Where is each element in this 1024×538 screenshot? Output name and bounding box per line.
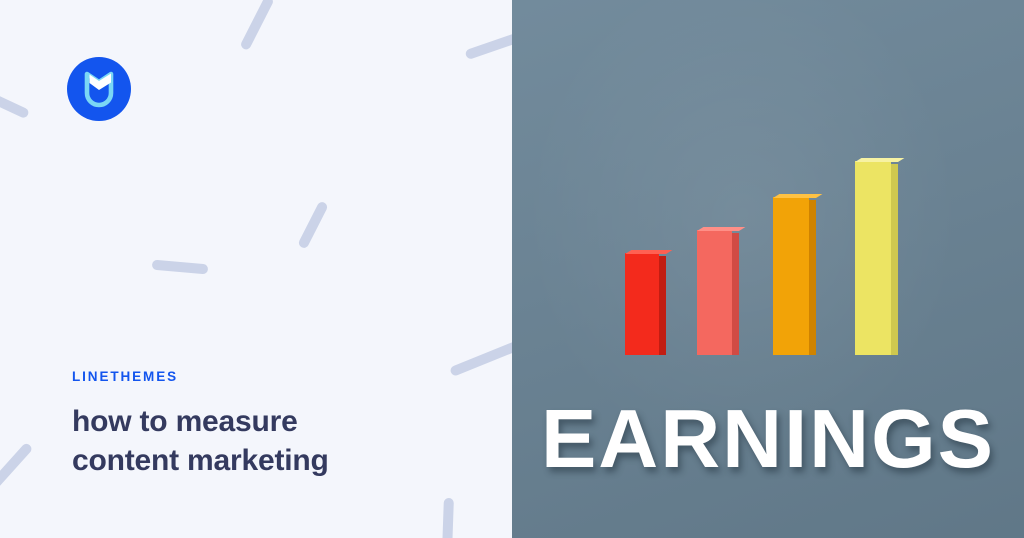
earnings-photo: EARNINGS [512, 0, 1024, 538]
bar-side [809, 200, 816, 355]
bar-top [773, 194, 822, 198]
decorative-dash [0, 442, 33, 490]
chart-bar [773, 197, 809, 355]
promo-banner: LINETHEMES how to measure content market… [0, 0, 1024, 538]
bar-side [659, 256, 666, 355]
bar-side [732, 233, 739, 355]
chart-bar [855, 161, 891, 355]
decorative-dash [239, 0, 274, 51]
decorative-dash [0, 91, 30, 120]
brand-eyebrow: LINETHEMES [72, 370, 472, 384]
decorative-dash [152, 260, 209, 275]
linethemes-logo[interactable] [67, 57, 131, 121]
decorative-dash [442, 498, 454, 538]
bar-top [697, 227, 745, 231]
decorative-dash [464, 26, 512, 60]
chart-bar [697, 230, 732, 355]
chart-bar [625, 253, 659, 355]
bar-face [773, 197, 809, 355]
bar-face [625, 253, 659, 355]
left-content-panel: LINETHEMES how to measure content market… [0, 0, 512, 538]
bar-top [625, 250, 672, 254]
page-title: how to measure content marketing [72, 402, 472, 482]
headline-line-2: content marketing [72, 441, 472, 481]
headline-block: LINETHEMES how to measure content market… [72, 370, 472, 481]
bar-face [855, 161, 891, 355]
bar-side [891, 164, 898, 355]
bar-face [697, 230, 732, 355]
bar-top [855, 158, 904, 162]
earnings-caption: EARNINGS [512, 397, 1024, 480]
decorative-dash [297, 200, 329, 249]
headline-line-1: how to measure [72, 402, 472, 442]
shield-check-icon [67, 57, 131, 121]
